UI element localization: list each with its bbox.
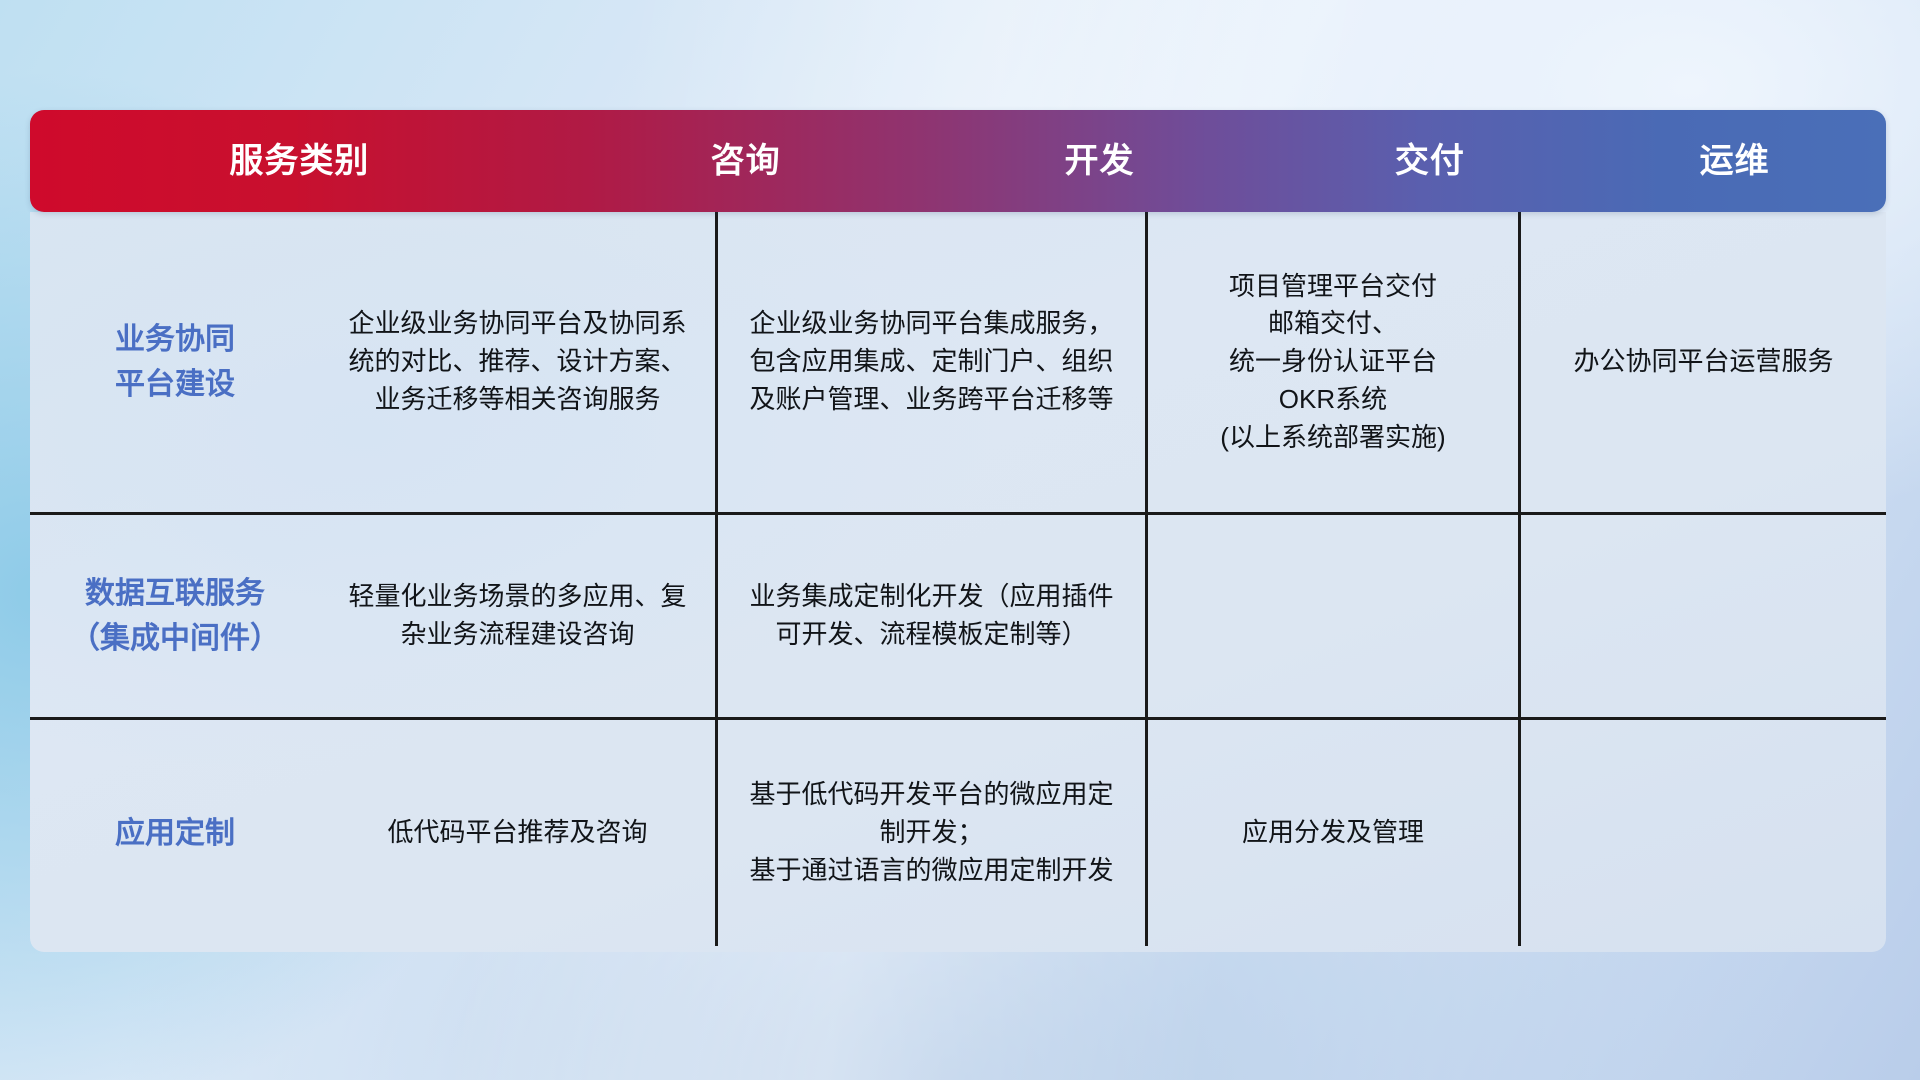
category-label: 数据互联服务 （集成中间件） (30, 571, 320, 661)
cell-development: 基于低代码开发平台的微应用定 制开发； 基于通过语言的微应用定制开发 (715, 720, 1145, 946)
table-row: 业务协同 平台建设 企业级业务协同平台及协同系 统的对比、推荐、设计方案、 业务… (30, 212, 1886, 512)
cell-operations (1518, 720, 1886, 946)
category-label: 业务协同 平台建设 (30, 317, 320, 407)
cell-consulting: 轻量化业务场景的多应用、复 杂业务流程建设咨询 (320, 578, 715, 653)
column-header-operations: 运维 (1583, 110, 1886, 212)
cell-operations (1518, 515, 1886, 717)
table-header-row: 服务类别 咨询 开发 交付 运维 (30, 110, 1886, 212)
cell-consulting: 低代码平台推荐及咨询 (320, 814, 715, 852)
column-header-service-category: 服务类别 (30, 110, 569, 212)
category-label: 应用定制 (30, 811, 320, 856)
cell-delivery: 项目管理平台交付 邮箱交付、 统一身份认证平台 OKR系统 (以上系统部署实施) (1145, 212, 1518, 512)
service-matrix-table: 服务类别 咨询 开发 交付 运维 业务协同 平台建设 企业级业务协同平台及协同系… (30, 110, 1886, 952)
cell-delivery: 应用分发及管理 (1145, 720, 1518, 946)
cell-operations: 办公协同平台运营服务 (1518, 212, 1886, 512)
cell-development: 业务集成定制化开发（应用插件 可开发、流程模板定制等） (715, 515, 1145, 717)
table-row: 数据互联服务 （集成中间件） 轻量化业务场景的多应用、复 杂业务流程建设咨询 业… (30, 512, 1886, 717)
cell-development: 企业级业务协同平台集成服务， 包含应用集成、定制门户、组织 及账户管理、业务跨平… (715, 212, 1145, 512)
column-header-development: 开发 (923, 110, 1277, 212)
cell-consulting: 企业级业务协同平台及协同系 统的对比、推荐、设计方案、 业务迁移等相关咨询服务 (320, 305, 715, 418)
row-category-cell: 业务协同 平台建设 企业级业务协同平台及协同系 统的对比、推荐、设计方案、 业务… (30, 212, 715, 512)
row-category-cell: 数据互联服务 （集成中间件） 轻量化业务场景的多应用、复 杂业务流程建设咨询 (30, 515, 715, 717)
table-body: 业务协同 平台建设 企业级业务协同平台及协同系 统的对比、推荐、设计方案、 业务… (30, 212, 1886, 952)
table-row: 应用定制 低代码平台推荐及咨询 基于低代码开发平台的微应用定 制开发； 基于通过… (30, 717, 1886, 946)
cell-delivery (1145, 515, 1518, 717)
column-header-consulting: 咨询 (569, 110, 923, 212)
column-header-delivery: 交付 (1277, 110, 1584, 212)
row-category-cell: 应用定制 低代码平台推荐及咨询 (30, 720, 715, 946)
